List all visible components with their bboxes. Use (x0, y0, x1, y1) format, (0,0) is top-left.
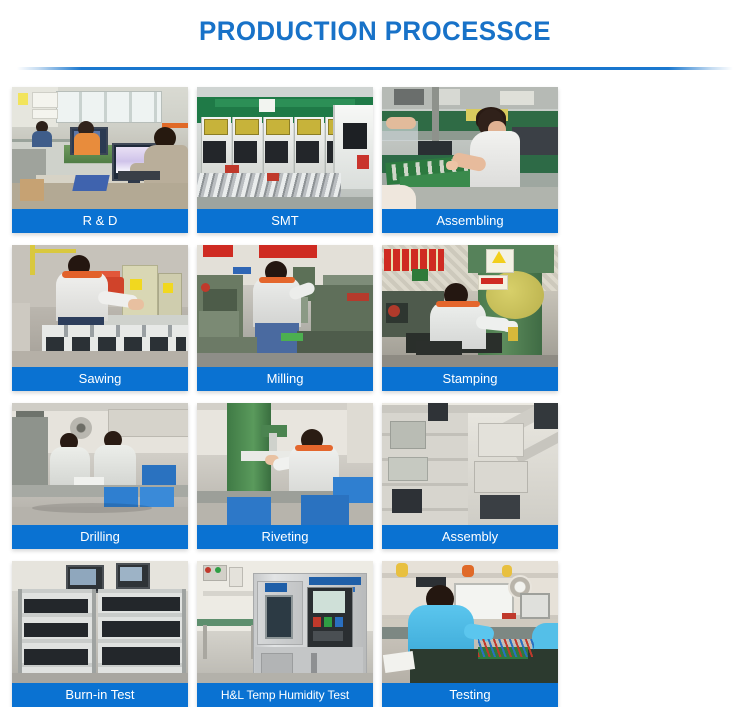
process-card-testing[interactable]: Testing (382, 561, 558, 707)
process-card-stamping[interactable]: Stamping (382, 245, 558, 391)
photo-riveting-machine-operator (197, 403, 373, 525)
photo-testing-bench-technician (382, 561, 558, 683)
process-card-drilling[interactable]: Drilling (12, 403, 188, 549)
process-label-assembling: Assembling (382, 209, 558, 233)
photo-drilling-workbench-blue-bins (12, 403, 188, 525)
process-card-sawing[interactable]: Sawing (12, 245, 188, 391)
process-card-burn-in-test[interactable]: Burn-in Test (12, 561, 188, 707)
process-label-rd: R & D (12, 209, 188, 233)
process-label-assembly: Assembly (382, 525, 558, 549)
process-card-assembly[interactable]: Assembly (382, 403, 558, 549)
process-card-riveting[interactable]: Riveting (197, 403, 373, 549)
process-card-milling[interactable]: Milling (197, 245, 373, 391)
photo-rd-office-workstations (12, 87, 188, 209)
page-header: PRODUCTION PROCESSCE (0, 0, 750, 70)
photo-temperature-humidity-chamber (197, 561, 373, 683)
photo-pcb-assembly-conveyor (382, 87, 558, 209)
process-card-assembling[interactable]: Assembling (382, 87, 558, 233)
process-label-milling: Milling (197, 367, 373, 391)
photo-burn-in-test-rack-trolleys (12, 561, 188, 683)
process-label-stamping: Stamping (382, 367, 558, 391)
process-label-temp-humidity-test: H&L Temp Humidity Test (197, 683, 373, 707)
photo-sawing-cutting-machine (12, 245, 188, 367)
process-label-burn-in-test: Burn-in Test (12, 683, 188, 707)
process-card-temp-humidity-test[interactable]: H&L Temp Humidity Test (197, 561, 373, 707)
photo-smt-pick-and-place-line (197, 87, 373, 209)
process-label-smt: SMT (197, 209, 373, 233)
photo-stamping-punch-press (382, 245, 558, 367)
page-title: PRODUCTION PROCESSCE (15, 14, 735, 48)
process-label-sawing: Sawing (12, 367, 188, 391)
photo-milling-machine-operator (197, 245, 373, 367)
process-card-rd[interactable]: R & D (12, 87, 188, 233)
production-process-grid: R & D SMT As (12, 70, 738, 707)
process-label-drilling: Drilling (12, 525, 188, 549)
process-label-testing: Testing (382, 683, 558, 707)
photo-assembly-parts-shelving (382, 403, 558, 525)
process-label-riveting: Riveting (197, 525, 373, 549)
process-card-smt[interactable]: SMT (197, 87, 373, 233)
